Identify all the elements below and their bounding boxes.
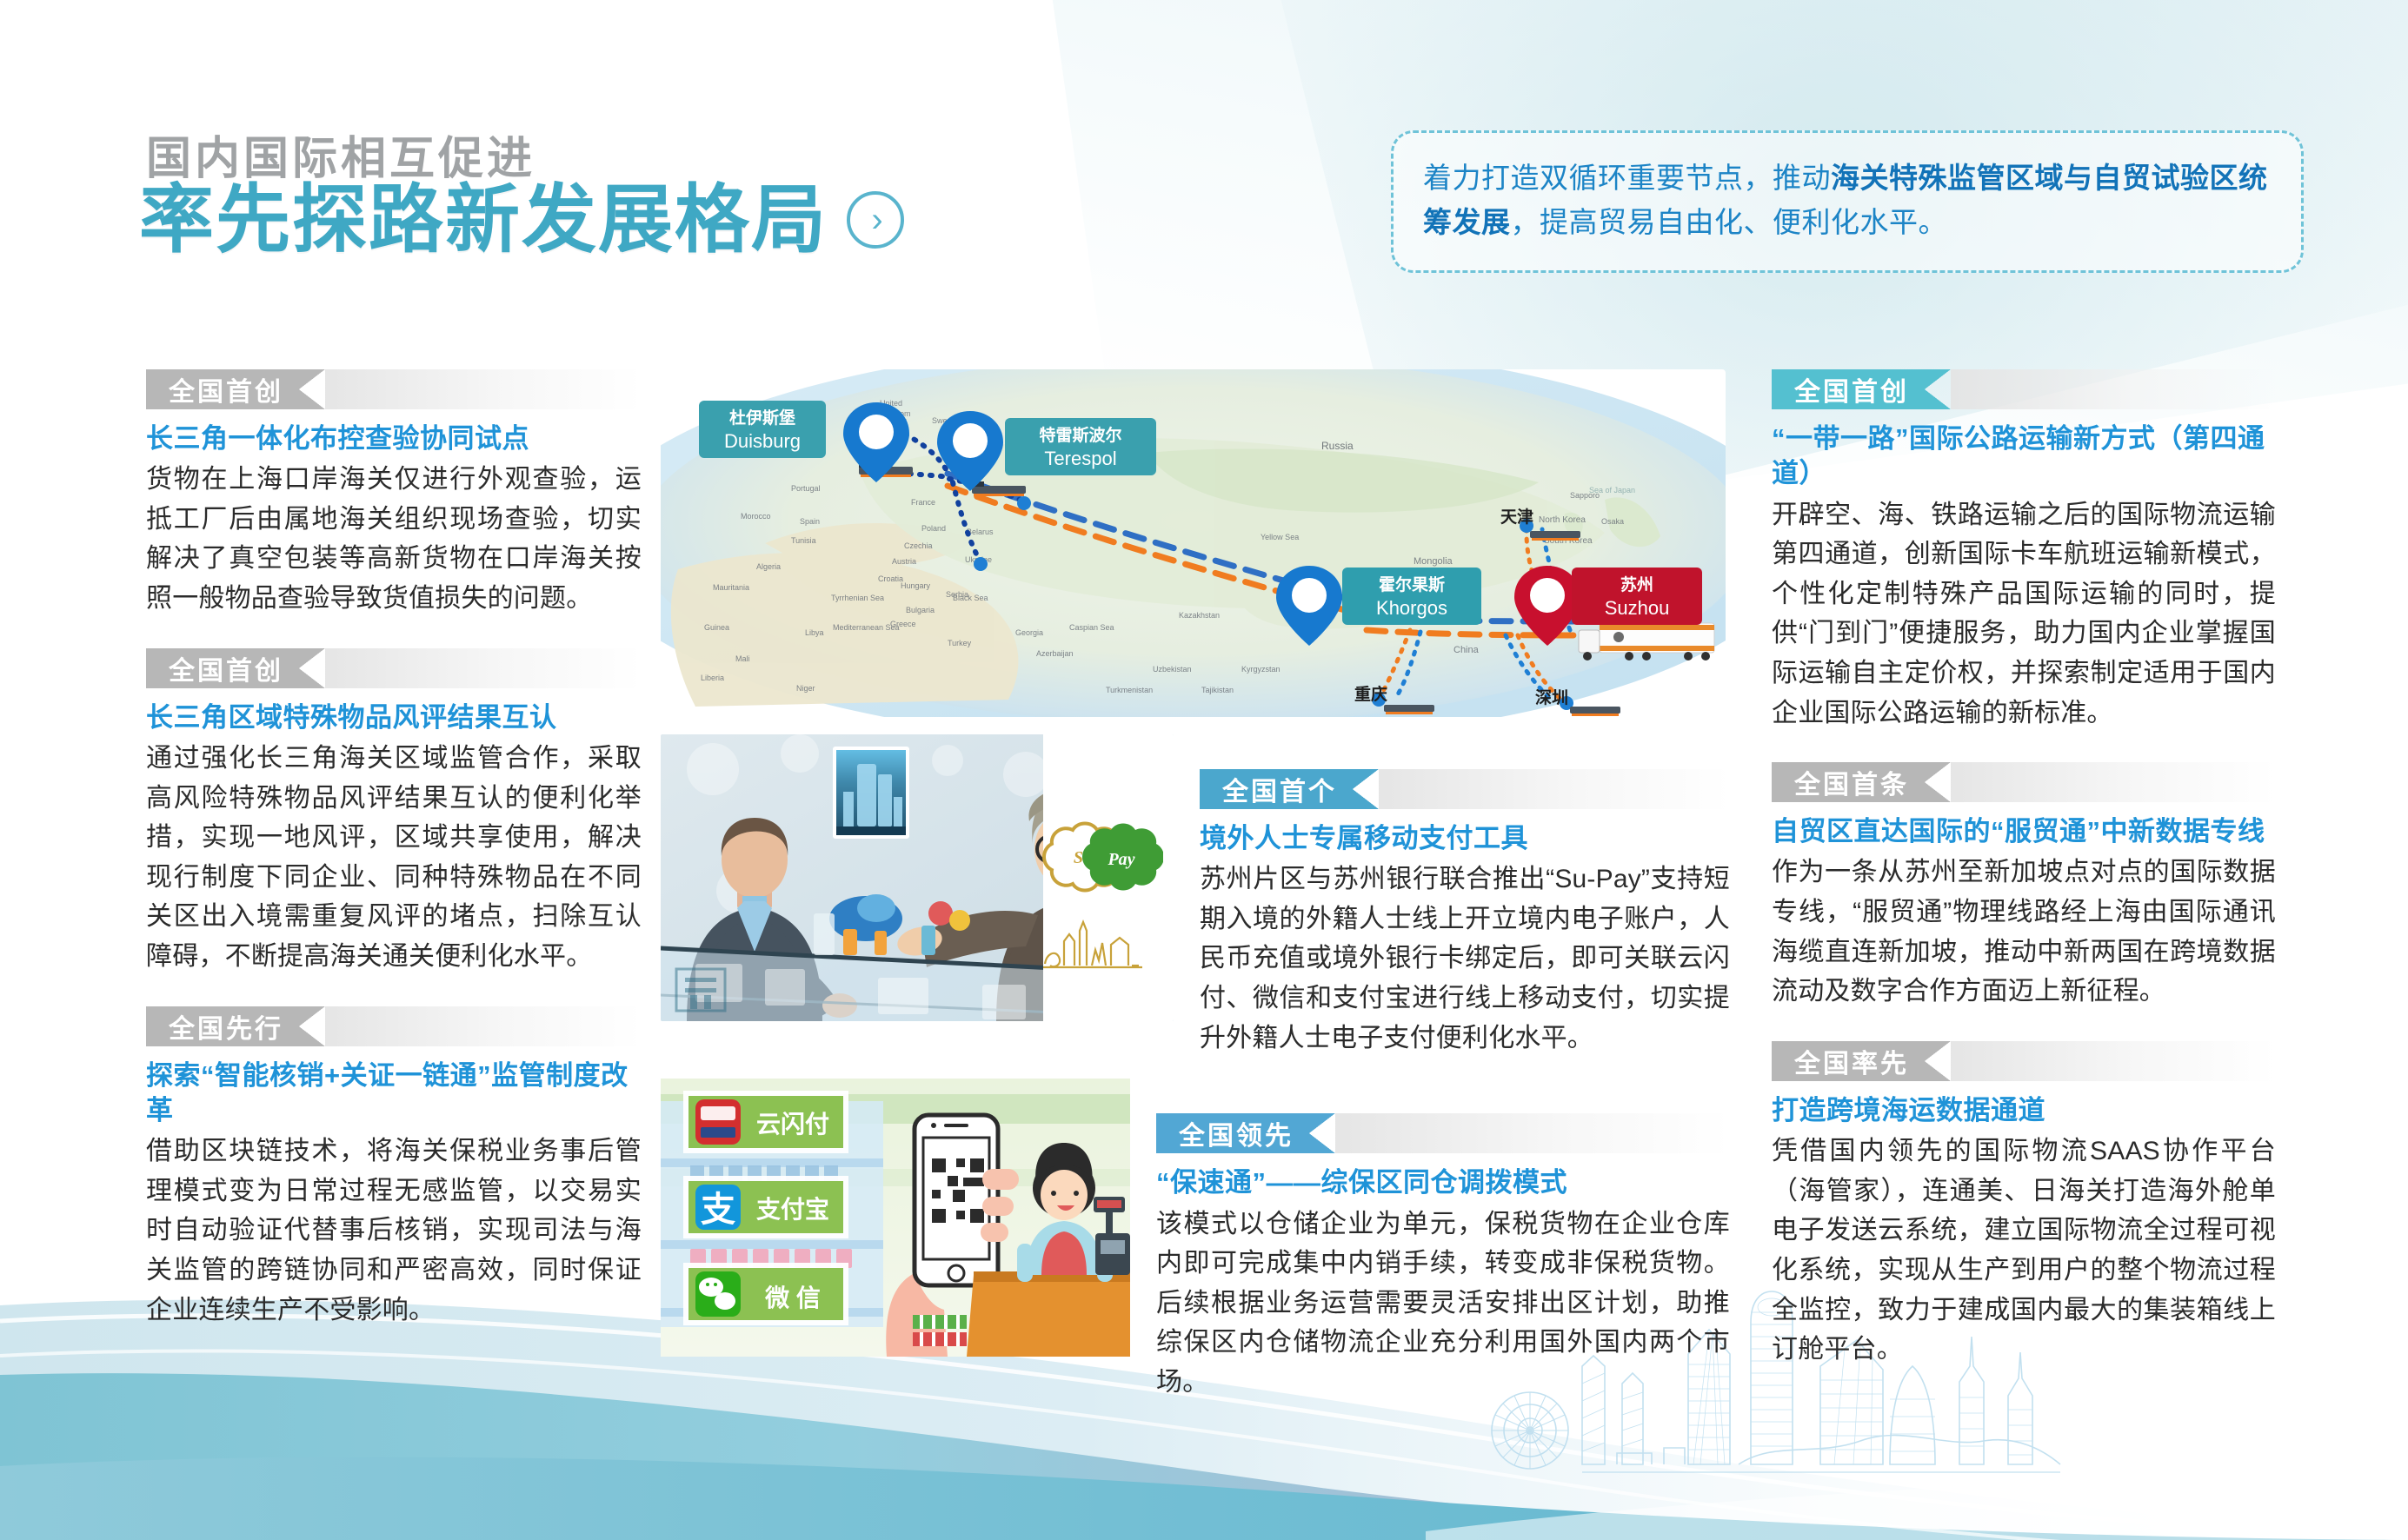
callout-line2-normal: ，提高贸易自由化、便利化水平。 (1511, 206, 1948, 238)
chevron-right-icon[interactable]: › (847, 191, 904, 249)
svg-text:Tajikistan: Tajikistan (1201, 686, 1234, 694)
logistics-map: NorwaySweden Finland Russia UnitedKingdo… (661, 369, 1726, 717)
svg-text:Mali: Mali (735, 654, 750, 663)
badge-row: 全国首创 (146, 369, 642, 409)
page-title-text: 率先探路新发展格局 (139, 183, 828, 257)
badge-arrow-tip (1925, 369, 1951, 409)
badge-trail (1951, 369, 2276, 409)
card-body: 货物在上海口岸海关仅进行外观查验，运抵工厂后由属地海关组织现场查验，切实解决了真… (146, 460, 642, 618)
svg-text:Croatia: Croatia (878, 574, 903, 583)
badge-row: 全国先行 (146, 1006, 642, 1046)
svg-text:特雷斯波尔: 特雷斯波尔 (1039, 425, 1121, 445)
status-badge: 全国首创 (146, 648, 299, 688)
svg-text:Czechia: Czechia (904, 541, 933, 550)
map-city-shenzhen: 深圳 (1535, 687, 1568, 707)
badge-arrow-tip (299, 369, 325, 409)
svg-text:Osaka: Osaka (1601, 517, 1624, 526)
svg-text:Tunisia: Tunisia (791, 536, 816, 545)
card-left-2: 全国首创 长三角区域特殊物品风评结果互认 通过强化长三角海关区域监管合作，采取高… (146, 648, 642, 977)
svg-text:Pay: Pay (1107, 850, 1134, 869)
app-chip-unionpay: 云闪付 (683, 1091, 848, 1153)
svg-text:Georgia: Georgia (1015, 628, 1043, 637)
card-right-3: 全国率先 打造跨境海运数据通道 凭借国内领先的国际物流SAAS协作平台（海管家）… (1772, 1041, 2276, 1370)
svg-text:Poland: Poland (921, 524, 946, 533)
svg-text:Niger: Niger (796, 684, 815, 693)
badge-row: 全国首创 (1772, 369, 2276, 409)
badge-trail (1379, 769, 1730, 809)
middle-column: NorwaySweden Finland Russia UnitedKingdo… (661, 369, 1730, 1403)
svg-text:Turkey: Turkey (948, 639, 972, 647)
svg-text:Libya: Libya (805, 628, 824, 637)
badge-trail (1951, 762, 2276, 802)
status-badge: 全国先行 (146, 1006, 299, 1046)
svg-text:Turkmenistan: Turkmenistan (1106, 686, 1153, 694)
svg-text:Guinea: Guinea (704, 623, 729, 632)
qr-payment-section: 云闪付 支 支付宝 微 信 (661, 1079, 1730, 1402)
payment-section: Su Pay (661, 734, 1730, 1058)
page-title: 率先探路新发展格局 › (139, 183, 904, 257)
left-column: 全国首创 长三角一体化布控查验协同试点 货物在上海口岸海关仅进行外观查验，运抵工… (146, 369, 642, 1359)
status-badge: 全国首条 (1772, 762, 1925, 802)
svg-text:Morocco: Morocco (741, 512, 771, 521)
svg-text:Tyrrhenian Sea: Tyrrhenian Sea (831, 594, 884, 602)
card-body: 该模式以仓储企业为单元，保税货物在企业仓库内即可完成集中内销手续，转变成非保税货… (1156, 1205, 1730, 1403)
badge-trail (325, 648, 642, 688)
svg-text:Khorgos: Khorgos (1376, 597, 1447, 619)
svg-text:微 信: 微 信 (764, 1284, 821, 1311)
card-body: 借助区块链技术，将海关保税业务事后管理模式变为日常过程无感监管，以交易实时自动验… (146, 1132, 642, 1330)
app-chip-wechat: 微 信 (683, 1263, 848, 1325)
status-badge: 全国首创 (146, 369, 299, 409)
svg-text:Austria: Austria (892, 557, 916, 566)
card-title: 自贸区直达国际的“服贸通”中新数据专线 (1772, 814, 2276, 849)
svg-text:Terespol: Terespol (1044, 448, 1116, 469)
svg-text:North Korea: North Korea (1539, 515, 1586, 525)
right-column: 全国首创 “一带一路”国际公路运输新方式（第四通道） 开辟空、海、铁路运输之后的… (1772, 369, 2276, 1399)
svg-text:Uzbekistan: Uzbekistan (1153, 665, 1192, 674)
badge-arrow-tip (299, 1006, 325, 1046)
svg-text:Belarus: Belarus (967, 528, 994, 536)
svg-text:Bulgaria: Bulgaria (906, 606, 935, 614)
badge-row: 全国首创 (146, 648, 642, 688)
badge-trail (1951, 1041, 2276, 1081)
badge-row: 全国首条 (1772, 762, 2276, 802)
svg-text:支: 支 (701, 1191, 735, 1229)
card-body: 苏州片区与苏州银行联合推出“Su-Pay”支持短期入境的外籍人士线上开立境内电子… (1200, 860, 1730, 1058)
status-badge: 全国率先 (1772, 1041, 1925, 1081)
badge-arrow-tip (299, 648, 325, 688)
supay-logo: Su Pay (1041, 809, 1163, 983)
highlight-callout: 着力打造双循环重要节点，推动海关特殊监管区域与自贸试验区统筹发展，提高贸易自由化… (1391, 130, 2304, 273)
svg-text:Liberia: Liberia (701, 674, 724, 682)
badge-trail (325, 369, 642, 409)
badge-arrow-tip (1925, 762, 1951, 802)
app-chip-alipay: 支 支付宝 (683, 1176, 848, 1238)
foreign-customer-photo: Su Pay (661, 734, 1174, 1021)
badge-row: 全国领先 (1156, 1113, 1730, 1153)
card-body: 作为一条从苏州至新加坡点对点的国际数据专线，“服贸通”物理线路经上海由国际通讯海… (1772, 853, 2276, 1011)
svg-text:China: China (1453, 645, 1480, 655)
qr-payment-illustration: 云闪付 支 支付宝 微 信 (661, 1079, 1130, 1357)
callout-text: 着力打造双循环重要节点，推动海关特殊监管区域与自贸试验区统筹发展，提高贸易自由化… (1423, 156, 2272, 244)
card-title: 打造跨境海运数据通道 (1772, 1093, 2276, 1128)
map-label-duisburg: 杜伊斯堡 Duisburg (699, 401, 826, 458)
card-right-2: 全国首条 自贸区直达国际的“服贸通”中新数据专线 作为一条从苏州至新加坡点对点的… (1772, 762, 2276, 1012)
svg-text:云闪付: 云闪付 (756, 1111, 829, 1138)
svg-text:Sea of Japan: Sea of Japan (1589, 486, 1635, 495)
card-title: 探索“智能核销+关证一链通”监管制度改革 (146, 1059, 642, 1129)
svg-text:Kazakhstan: Kazakhstan (1179, 611, 1220, 620)
callout-line1-normal: 着力打造双循环重要节点，推动 (1423, 162, 1831, 194)
card-title: 长三角一体化布控查验协同试点 (146, 422, 642, 456)
map-label-suzhou: 苏州 Suzhou (1572, 568, 1702, 625)
card-body: 凭借国内领先的国际物流SAAS协作平台（海管家），连通美、日海关打造海外舱单电子… (1772, 1132, 2276, 1370)
svg-text:Mauritania: Mauritania (713, 583, 749, 592)
supay-logo-panel: Su Pay (1043, 734, 1174, 1021)
svg-text:Hungary: Hungary (901, 581, 931, 590)
svg-text:Yellow Sea: Yellow Sea (1261, 533, 1299, 541)
map-city-chongqing: 重庆 (1354, 684, 1387, 704)
map-label-terespol: 特雷斯波尔 Terespol (1005, 418, 1156, 475)
status-badge: 全国首创 (1772, 369, 1925, 409)
card-mid-1: 全国首个 境外人士专属移动支付工具 苏州片区与苏州银行联合推出“Su-Pay”支… (1200, 734, 1730, 1058)
svg-text:Mongolia: Mongolia (1414, 556, 1453, 567)
badge-arrow-tip (1353, 769, 1379, 809)
badge-row: 全国率先 (1772, 1041, 2276, 1081)
svg-text:霍尔果斯: 霍尔果斯 (1379, 574, 1445, 594)
card-mid-2: 全国领先 “保速通”——综保区同仓调拨模式 该模式以仓储企业为单元，保税货物在企… (1156, 1079, 1730, 1402)
svg-text:Mediterranean Sea: Mediterranean Sea (833, 623, 900, 632)
svg-text:Azerbaijan: Azerbaijan (1036, 649, 1074, 658)
svg-text:France: France (911, 498, 935, 507)
card-title: “一带一路”国际公路运输新方式（第四通道） (1772, 422, 2276, 492)
svg-text:Duisburg: Duisburg (724, 430, 801, 452)
callout-line1-bold: 海关特殊监管区域与自贸试验区 (1831, 162, 2238, 194)
svg-text:Spain: Spain (800, 517, 820, 526)
svg-text:Black Sea: Black Sea (953, 594, 988, 602)
svg-text:Portugal: Portugal (791, 484, 821, 493)
card-title: 长三角区域特殊物品风评结果互认 (146, 700, 642, 735)
svg-text:杜伊斯堡: 杜伊斯堡 (729, 408, 795, 428)
map-city-tianjin: 天津 (1500, 507, 1533, 527)
badge-arrow-tip (1309, 1113, 1335, 1153)
map-label-khorgos: 霍尔果斯 Khorgos (1342, 568, 1481, 625)
svg-text:Algeria: Algeria (756, 562, 781, 571)
card-title: 境外人士专属移动支付工具 (1200, 821, 1730, 856)
svg-text:支付宝: 支付宝 (756, 1195, 829, 1223)
svg-text:苏州: 苏州 (1620, 574, 1653, 594)
card-title: “保速通”——综保区同仓调拨模式 (1156, 1165, 1730, 1200)
svg-text:Russia: Russia (1321, 440, 1354, 452)
card-body: 开辟空、海、铁路运输之后的国际物流运输第四通道，创新国际卡车航班运输新模式，个性… (1772, 495, 2276, 733)
page-kicker: 国内国际相互促进 (146, 122, 535, 187)
svg-text:Kyrgyzstan: Kyrgyzstan (1241, 665, 1280, 674)
svg-text:Caspian Sea: Caspian Sea (1069, 623, 1114, 632)
status-badge: 全国首个 (1200, 769, 1353, 809)
badge-trail (1335, 1113, 1730, 1153)
card-body: 通过强化长三角海关区域监管合作，采取高风险特殊物品风评结果互认的便利化举措，实现… (146, 739, 642, 977)
status-badge: 全国领先 (1156, 1113, 1309, 1153)
svg-text:Suzhou: Suzhou (1605, 597, 1670, 619)
badge-trail (325, 1006, 642, 1046)
card-left-3: 全国先行 探索“智能核销+关证一链通”监管制度改革 借助区块链技术，将海关保税业… (146, 1006, 642, 1331)
card-right-1: 全国首创 “一带一路”国际公路运输新方式（第四通道） 开辟空、海、铁路运输之后的… (1772, 369, 2276, 733)
card-left-1: 全国首创 长三角一体化布控查验协同试点 货物在上海口岸海关仅进行外观查验，运抵工… (146, 369, 642, 619)
badge-row: 全国首个 (1200, 769, 1730, 809)
badge-arrow-tip (1925, 1041, 1951, 1081)
